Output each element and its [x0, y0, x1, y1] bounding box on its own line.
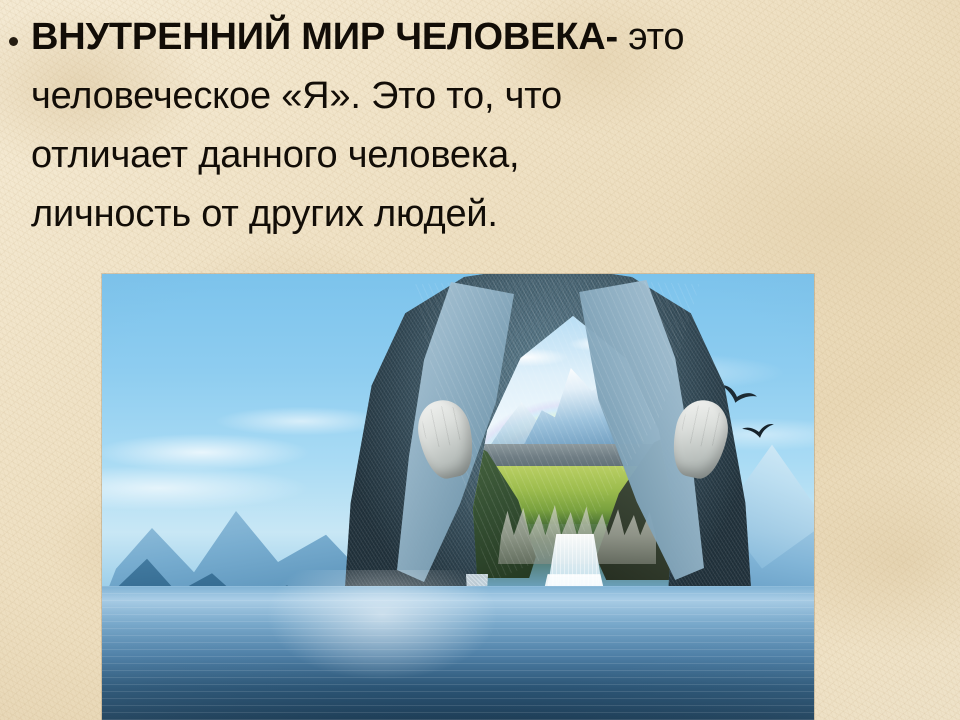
- hand-knuckles: [679, 403, 726, 450]
- paragraph-line-4: личность от других людей.: [31, 185, 960, 244]
- bullet-point-icon: [9, 37, 18, 46]
- bullet-list-item: ВНУТРЕННИЙ МИР ЧЕЛОВЕКА- это человеческо…: [0, 8, 960, 244]
- term-suffix: это: [618, 16, 684, 58]
- paragraph-line-3: отличает данного человека,: [31, 126, 960, 185]
- paragraph-line-2: человеческое «Я». Это то, что: [31, 67, 960, 126]
- inner-world-photo: [102, 274, 814, 720]
- term-emphasis: ВНУТРЕННИЙ МИР ЧЕЛОВЕКА-: [31, 16, 618, 58]
- slide-paragraph: ВНУТРЕННИЙ МИР ЧЕЛОВЕКА- это человеческо…: [31, 8, 960, 244]
- hand-knuckles: [420, 403, 467, 450]
- slide-text-block: ВНУТРЕННИЙ МИР ЧЕЛОВЕКА- это человеческо…: [0, 0, 960, 244]
- slide-canvas: ВНУТРЕННИЙ МИР ЧЕЛОВЕКА- это человеческо…: [0, 0, 960, 720]
- paragraph-line-1: ВНУТРЕННИЙ МИР ЧЕЛОВЕКА- это: [31, 8, 960, 67]
- photo-foreground-glow: [222, 570, 542, 720]
